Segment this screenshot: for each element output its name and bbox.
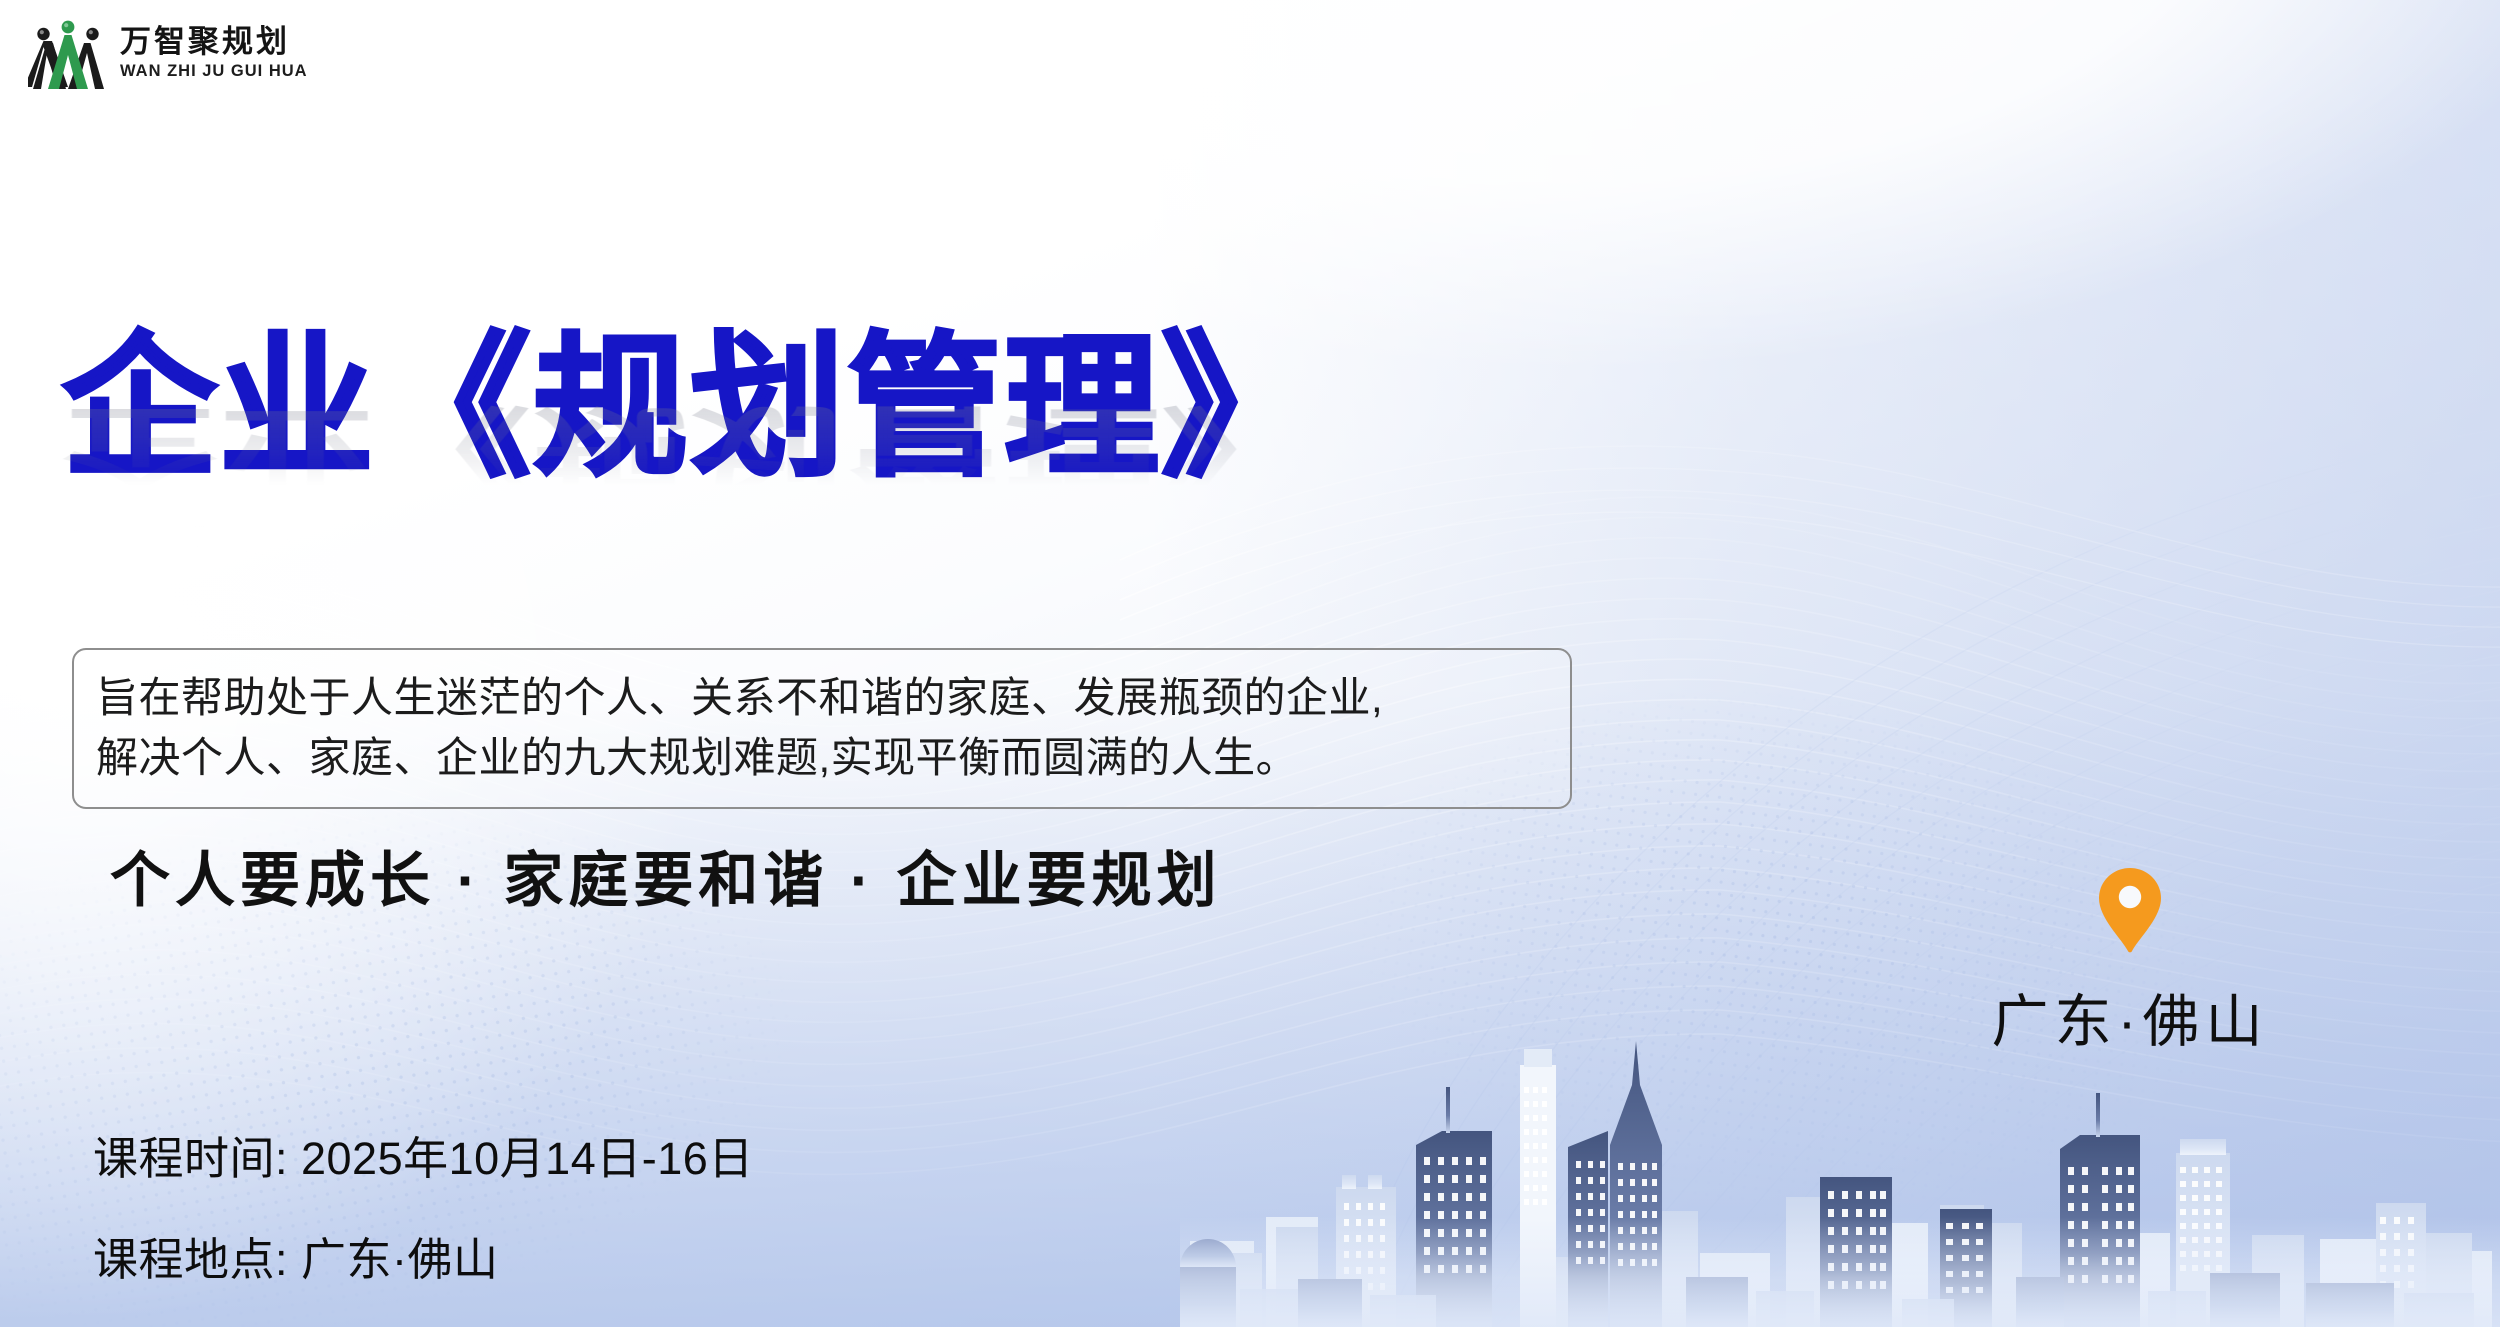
map-pin-icon bbox=[2097, 866, 2163, 954]
brand-name-en: WAN ZHI JU GUI HUA bbox=[120, 63, 308, 80]
course-place-row: 课程地点: 广东·佛山 bbox=[93, 1223, 754, 1288]
location-label: 广东·佛山 bbox=[1950, 976, 2310, 1058]
poster-canvas: 万智聚规划 WAN ZHI JU GUI HUA 企业《规划管理》 企业《规划管… bbox=[0, 0, 2500, 1327]
brand-logo[interactable]: 万智聚规划 WAN ZHI JU GUI HUA bbox=[28, 17, 308, 89]
page-title-reflection: 企业《规划管理》 bbox=[62, 401, 1318, 491]
location-block: 广东·佛山 bbox=[1950, 866, 2310, 1058]
description-line-2: 解决个人、家庭、企业的九大规划难题,实现平衡而圆满的人生。 bbox=[96, 728, 1548, 788]
brand-name-cn: 万智聚规划 bbox=[120, 26, 308, 57]
brand-logo-text: 万智聚规划 WAN ZHI JU GUI HUA bbox=[120, 26, 308, 80]
description-box: 旨在帮助处于人生迷茫的个人、关系不和谐的家庭、发展瓶颈的企业, 解决个人、家庭、… bbox=[72, 648, 1572, 809]
description-line-1: 旨在帮助处于人生迷茫的个人、关系不和谐的家庭、发展瓶颈的企业, bbox=[96, 668, 1548, 728]
course-time-row: 课程时间: 2025年10月14日-16日 bbox=[93, 1122, 754, 1187]
course-info: 课程时间: 2025年10月14日-16日 课程地点: 广东·佛山 bbox=[93, 1122, 754, 1288]
three-people-mark-icon bbox=[28, 17, 108, 89]
city-skyline-illustration-icon bbox=[1180, 1027, 2500, 1327]
hero-title-block: 企业《规划管理》 企业《规划管理》 bbox=[62, 330, 1318, 646]
tagline: 个人要成长 · 家庭要和谐 · 企业要规划 bbox=[110, 832, 1222, 919]
